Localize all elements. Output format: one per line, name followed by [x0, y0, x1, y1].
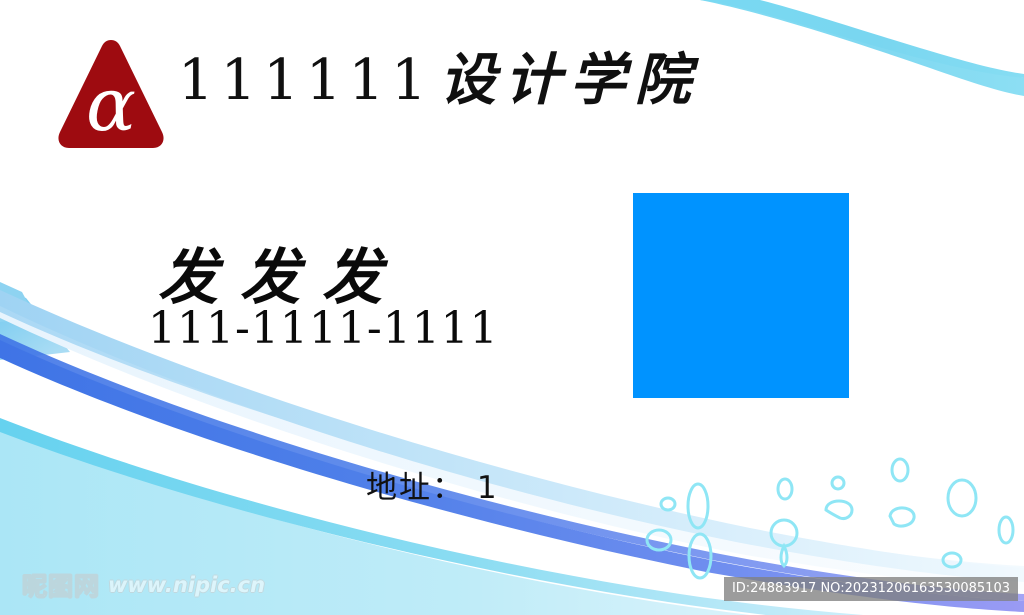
company-name-digits: 111111 [178, 48, 434, 113]
droplet-cluster [647, 459, 1013, 578]
phone-number: 111-1111-1111 [148, 303, 499, 354]
watermark-url: www.nipic.cn [108, 573, 265, 597]
business-card-canvas: α 111111设计学院 发发发 111-1111-1111 地址： 1 昵图网… [0, 0, 1024, 615]
image-id-badge: ID:24883917 NO:20231206163530085103 [724, 577, 1018, 601]
swoosh-top-right [700, 0, 1024, 96]
company-name-words: 设计学院 [440, 47, 700, 113]
svg-text:α: α [86, 62, 136, 148]
watermark-site-name: 昵图网 [22, 567, 100, 603]
swoosh-left-facet [0, 282, 70, 360]
alpha-triangle-logo-icon: α [54, 34, 168, 152]
address-line: 地址： 1 [366, 462, 499, 507]
company-name: 111111设计学院 [178, 52, 700, 109]
logo: α [54, 34, 168, 152]
photo-placeholder-box [633, 193, 849, 398]
site-watermark: 昵图网 www.nipic.cn [22, 567, 265, 603]
